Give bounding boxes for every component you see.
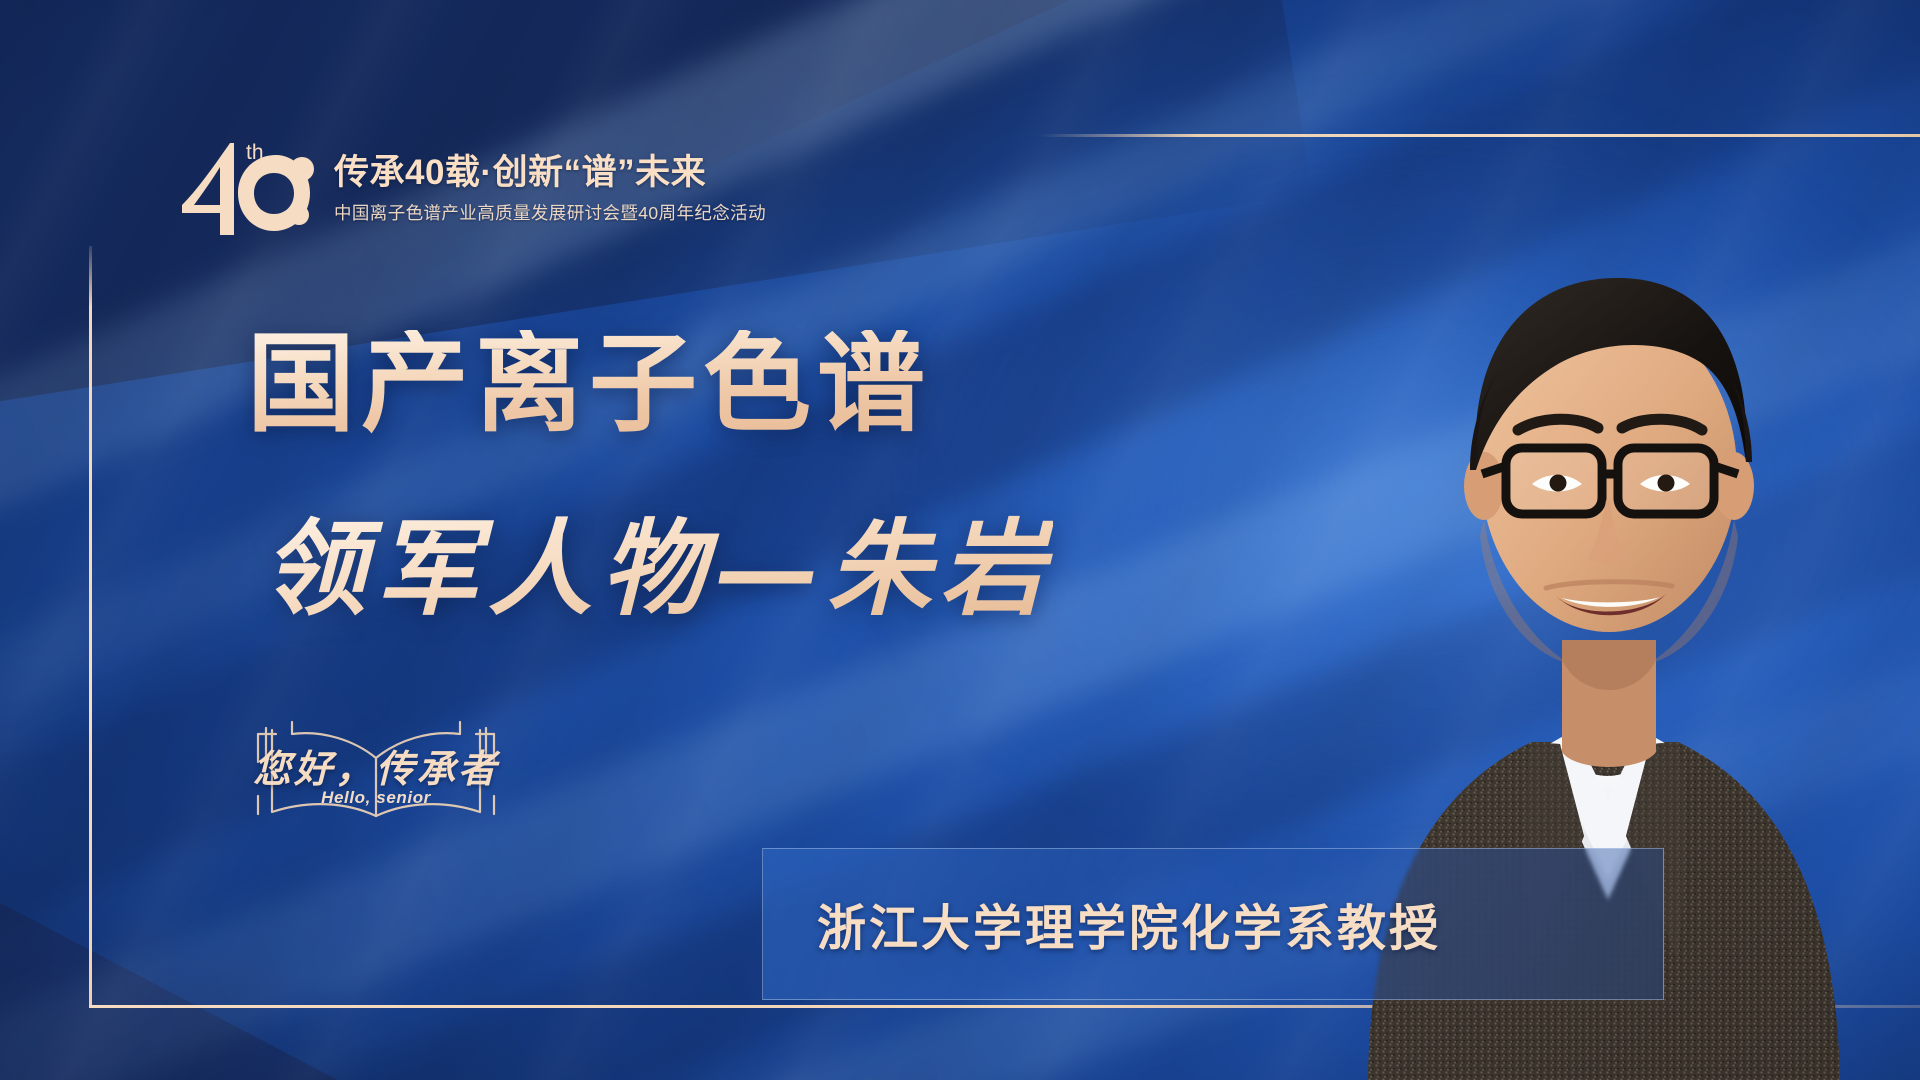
badge-chinese-text: 您好，传承者 — [236, 738, 516, 793]
anniversary-logo-text: 传承40载·创新“谱”未来 中国离子色谱产业高质量发展研讨会暨40周年纪念活动 — [334, 139, 766, 225]
anniversary-ordinal-suffix: th — [246, 141, 264, 165]
anniversary-40th-mark: th — [168, 139, 318, 235]
frame-line-left — [89, 246, 92, 1008]
affiliation-text: 浙江大学理学院化学系教授 — [763, 889, 1441, 960]
anniversary-tagline: 传承40载·创新“谱”未来 — [334, 155, 766, 190]
headline-line-2: 领军人物—朱岩 — [262, 508, 1053, 631]
badge-english-text: Hello, senior — [236, 788, 516, 808]
frame-line-top-right — [1040, 134, 1920, 137]
frame-line-bottom — [89, 1005, 1920, 1008]
poster-canvas: th 传承40载·创新“谱”未来 中国离子色谱产业高质量发展研讨会暨40周年纪念… — [0, 0, 1920, 1080]
headline-line-1: 国产离子色谱 — [247, 330, 931, 438]
anniversary-subtitle: 中国离子色谱产业高质量发展研讨会暨40周年纪念活动 — [334, 200, 766, 225]
affiliation-caption-bar: 浙江大学理学院化学系教授 — [762, 848, 1664, 1000]
hello-senior-badge: 您好，传承者 Hello, senior — [236, 700, 516, 820]
anniversary-logo: th 传承40载·创新“谱”未来 中国离子色谱产业高质量发展研讨会暨40周年纪念… — [168, 139, 766, 235]
